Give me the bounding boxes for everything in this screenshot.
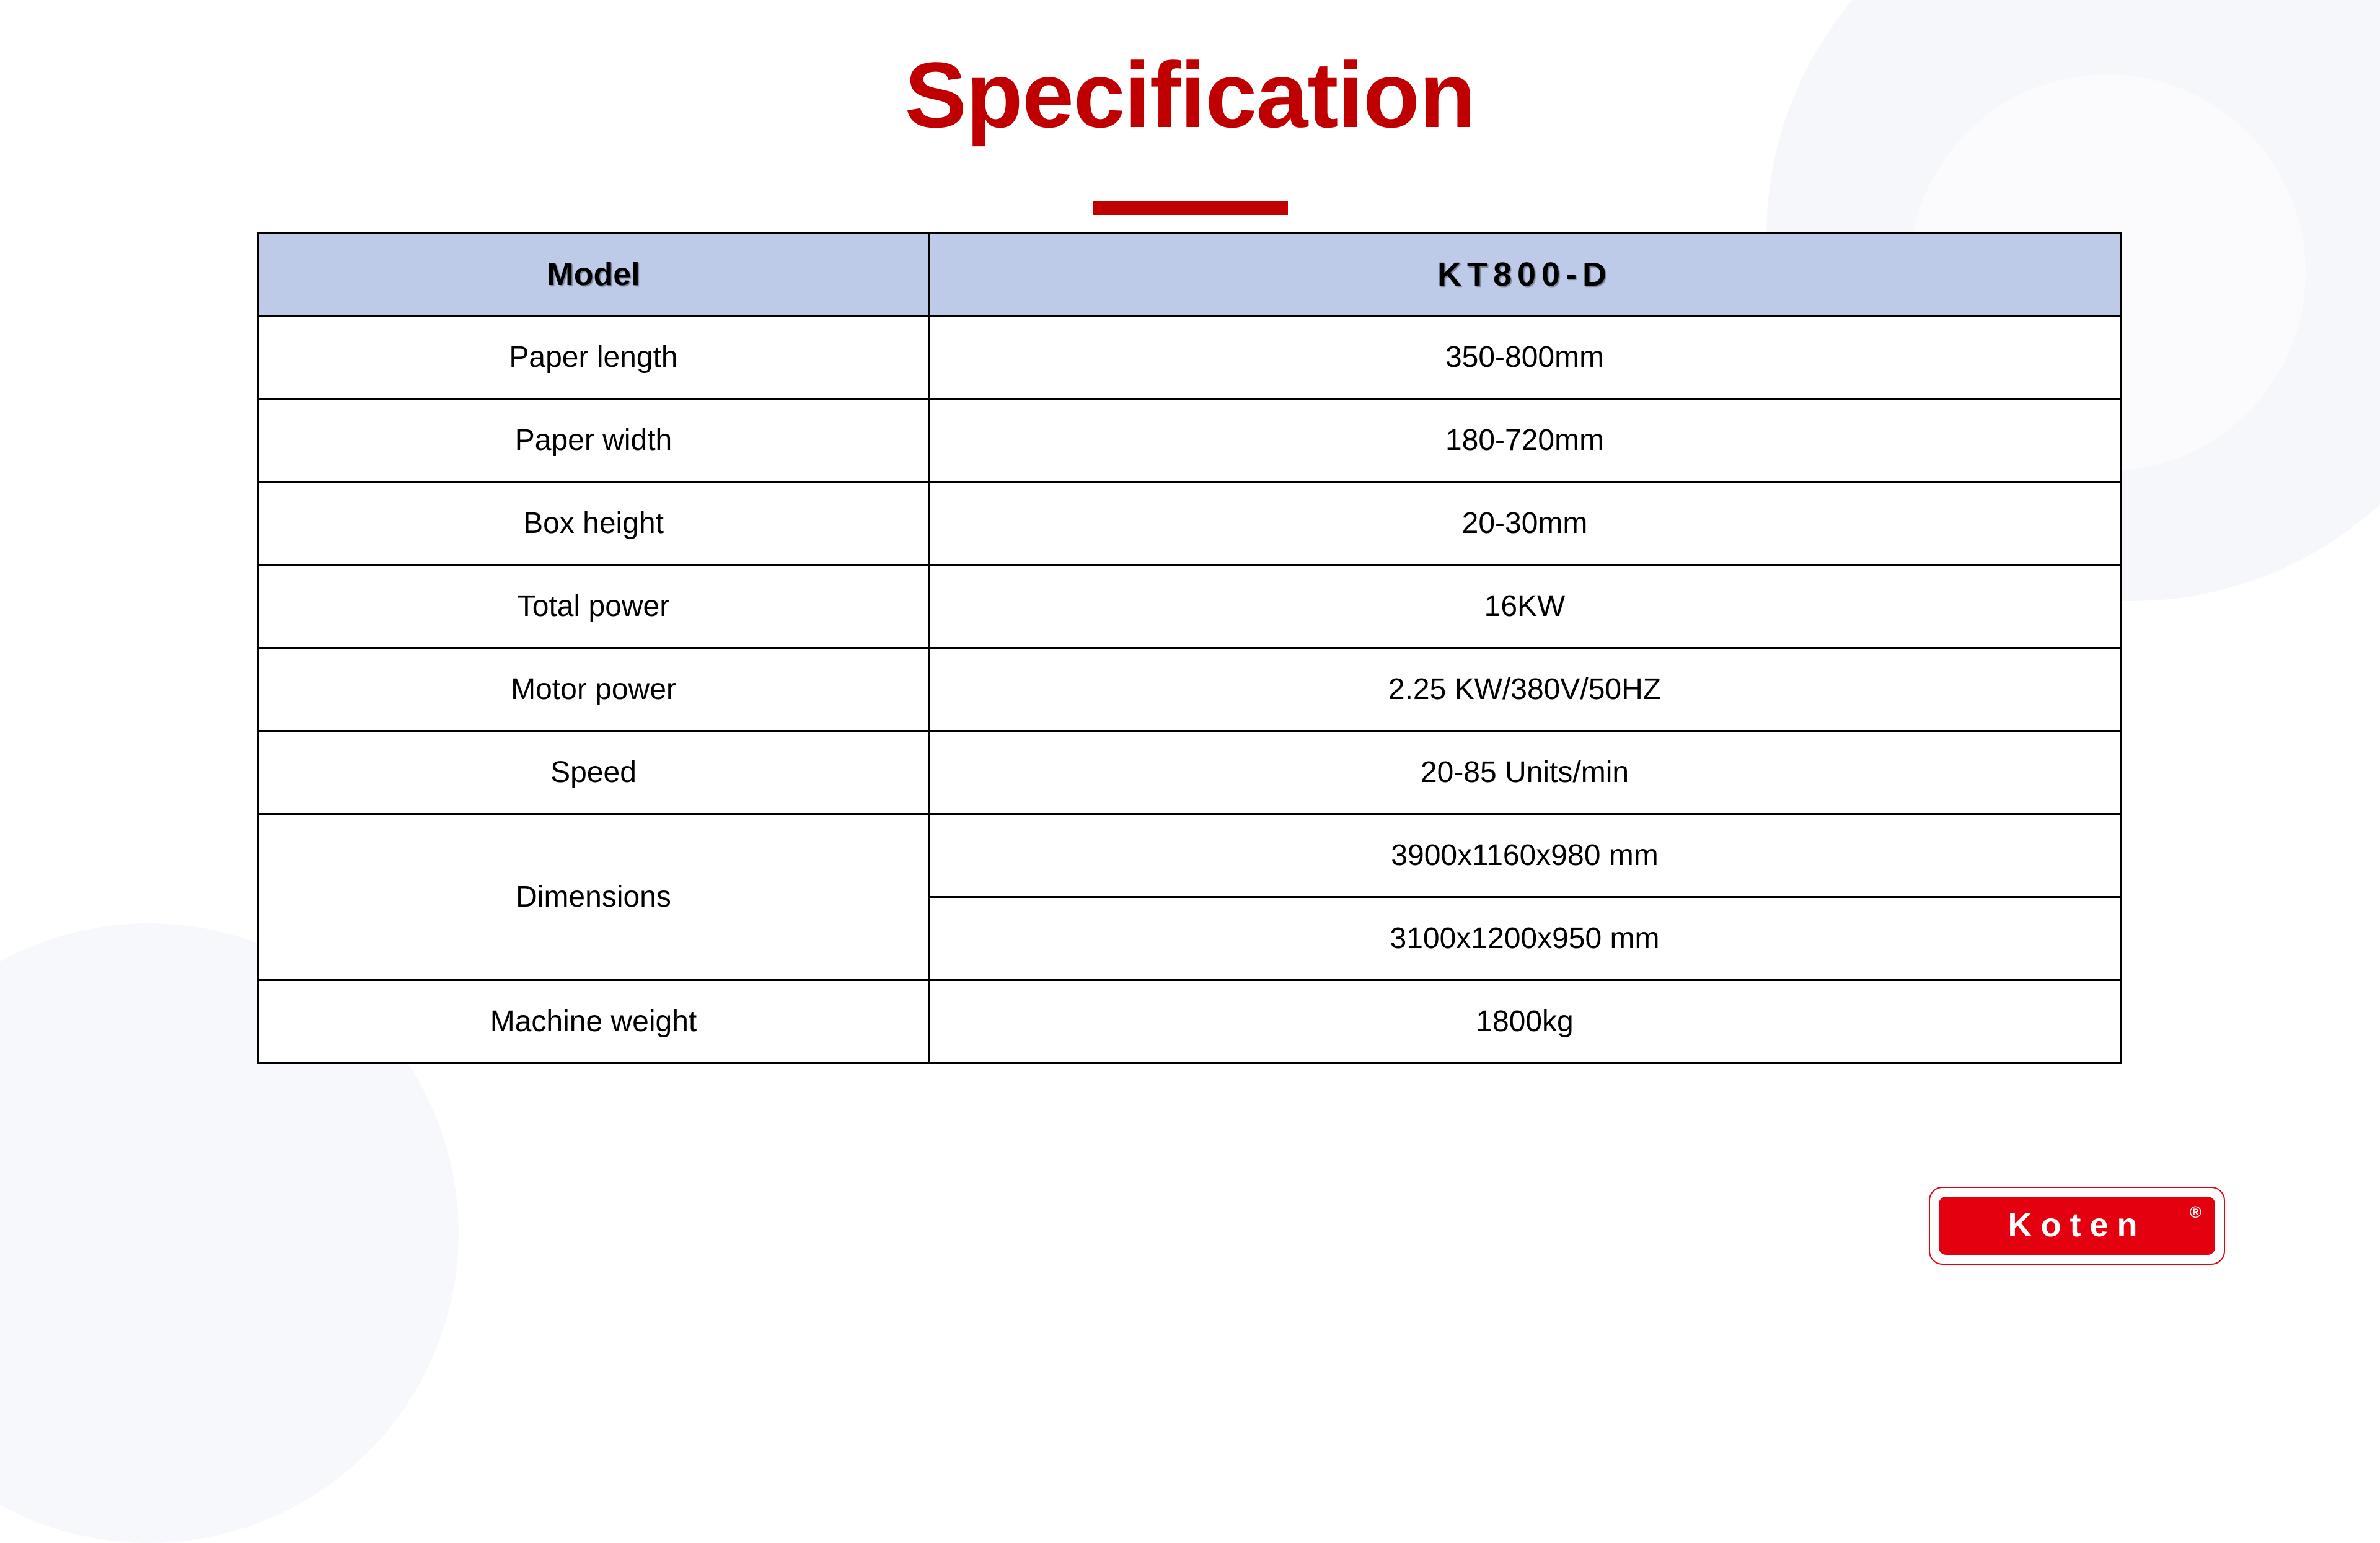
row-label-motor-power: Motor power — [258, 648, 929, 731]
table-header-row: Model KT800-D — [258, 233, 2121, 316]
row-value-paper-width: 180-720mm — [929, 399, 2121, 482]
row-value-box-height: 20-30mm — [929, 482, 2121, 565]
row-value-dimensions-2: 3100x1200x950 mm — [929, 897, 2121, 980]
title-container: Specification — [0, 48, 2380, 141]
brand-logo: Koten ® — [1929, 1187, 2225, 1265]
row-value-motor-power: 2.25 KW/380V/50HZ — [929, 648, 2121, 731]
table-row: Motor power 2.25 KW/380V/50HZ — [258, 648, 2121, 731]
row-label-total-power: Total power — [258, 565, 929, 648]
row-label-dimensions: Dimensions — [258, 814, 929, 980]
table-row: Total power 16KW — [258, 565, 2121, 648]
table-row: Speed 20-85 Units/min — [258, 731, 2121, 814]
row-label-paper-length: Paper length — [258, 316, 929, 399]
row-label-machine-weight: Machine weight — [258, 980, 929, 1063]
specification-table: Model KT800-D Paper length 350-800mm Pap… — [257, 232, 2122, 1064]
row-value-machine-weight: 1800kg — [929, 980, 2121, 1063]
row-value-total-power: 16KW — [929, 565, 2121, 648]
row-label-speed: Speed — [258, 731, 929, 814]
row-value-paper-length: 350-800mm — [929, 316, 2121, 399]
row-value-speed: 20-85 Units/min — [929, 731, 2121, 814]
header-cell-model-label: Model — [258, 233, 929, 316]
table-row: Paper width 180-720mm — [258, 399, 2121, 482]
row-value-dimensions-1: 3900x1160x980 mm — [929, 814, 2121, 897]
row-label-box-height: Box height — [258, 482, 929, 565]
table-row: Box height 20-30mm — [258, 482, 2121, 565]
table-row-dimensions-first: Dimensions 3900x1160x980 mm — [258, 814, 2121, 897]
registered-trademark-icon: ® — [2190, 1204, 2201, 1220]
table-row: Machine weight 1800kg — [258, 980, 2121, 1063]
table-row: Paper length 350-800mm — [258, 316, 2121, 399]
header-cell-model-value: KT800-D — [929, 233, 2121, 316]
page-title: Specification — [905, 48, 1476, 141]
row-label-paper-width: Paper width — [258, 399, 929, 482]
title-underline-rule — [1093, 201, 1288, 215]
logo-wordmark: Koten — [2008, 1206, 2146, 1244]
